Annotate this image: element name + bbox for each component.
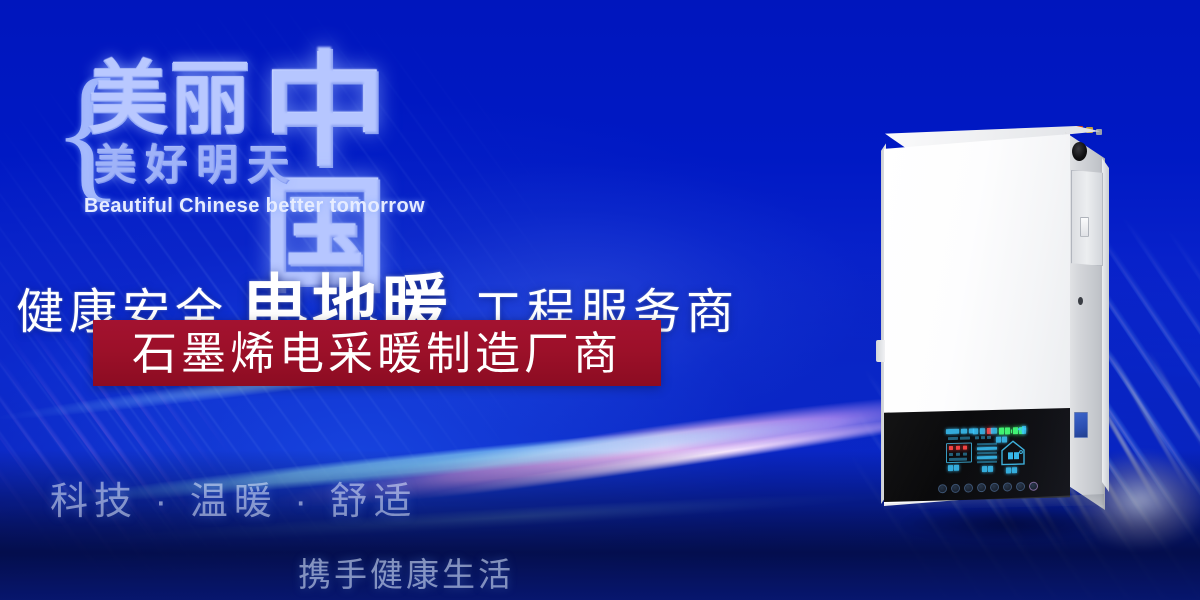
control-button-7[interactable] [1016, 481, 1025, 490]
side-switch-icon [1080, 217, 1089, 237]
logo-main-text: 美丽 [88, 60, 252, 140]
control-button-4[interactable] [977, 483, 986, 492]
control-button-2[interactable] [951, 483, 960, 492]
logo-sub-text: 美好明天 [94, 145, 298, 187]
logo-english-tagline: Beautiful Chinese better tomorrow [84, 195, 425, 218]
promo-banner: { 美丽 中国 美好明天 Beautiful Chinese better to… [0, 0, 1200, 600]
side-blue-label [1074, 412, 1088, 438]
side-mount-hole-icon [1078, 297, 1083, 305]
red-bar-text: 石墨烯电采暖制造厂商 [132, 331, 622, 376]
product-electric-boiler [862, 112, 1162, 532]
control-button-5[interactable] [990, 482, 999, 491]
grey-pipe-connector-icon [1096, 129, 1102, 135]
side-nub-icon [876, 340, 885, 362]
control-button-6[interactable] [1003, 482, 1012, 491]
brand-logo: { 美丽 中国 美好明天 Beautiful Chinese better to… [52, 55, 482, 225]
product-right-edge [1102, 158, 1109, 492]
tagline-secondary: 携手健康生活 [298, 548, 514, 596]
red-highlight-bar: 石墨烯电采暖制造厂商 [93, 320, 661, 386]
house-temperature-icon [1000, 439, 1026, 466]
control-button-power[interactable] [1029, 481, 1038, 490]
control-button-3[interactable] [964, 483, 973, 492]
lcd-control-display [946, 425, 1028, 477]
tagline-primary: 科技 · 温暖 · 舒适 [50, 470, 418, 525]
control-button-1[interactable] [938, 484, 947, 493]
